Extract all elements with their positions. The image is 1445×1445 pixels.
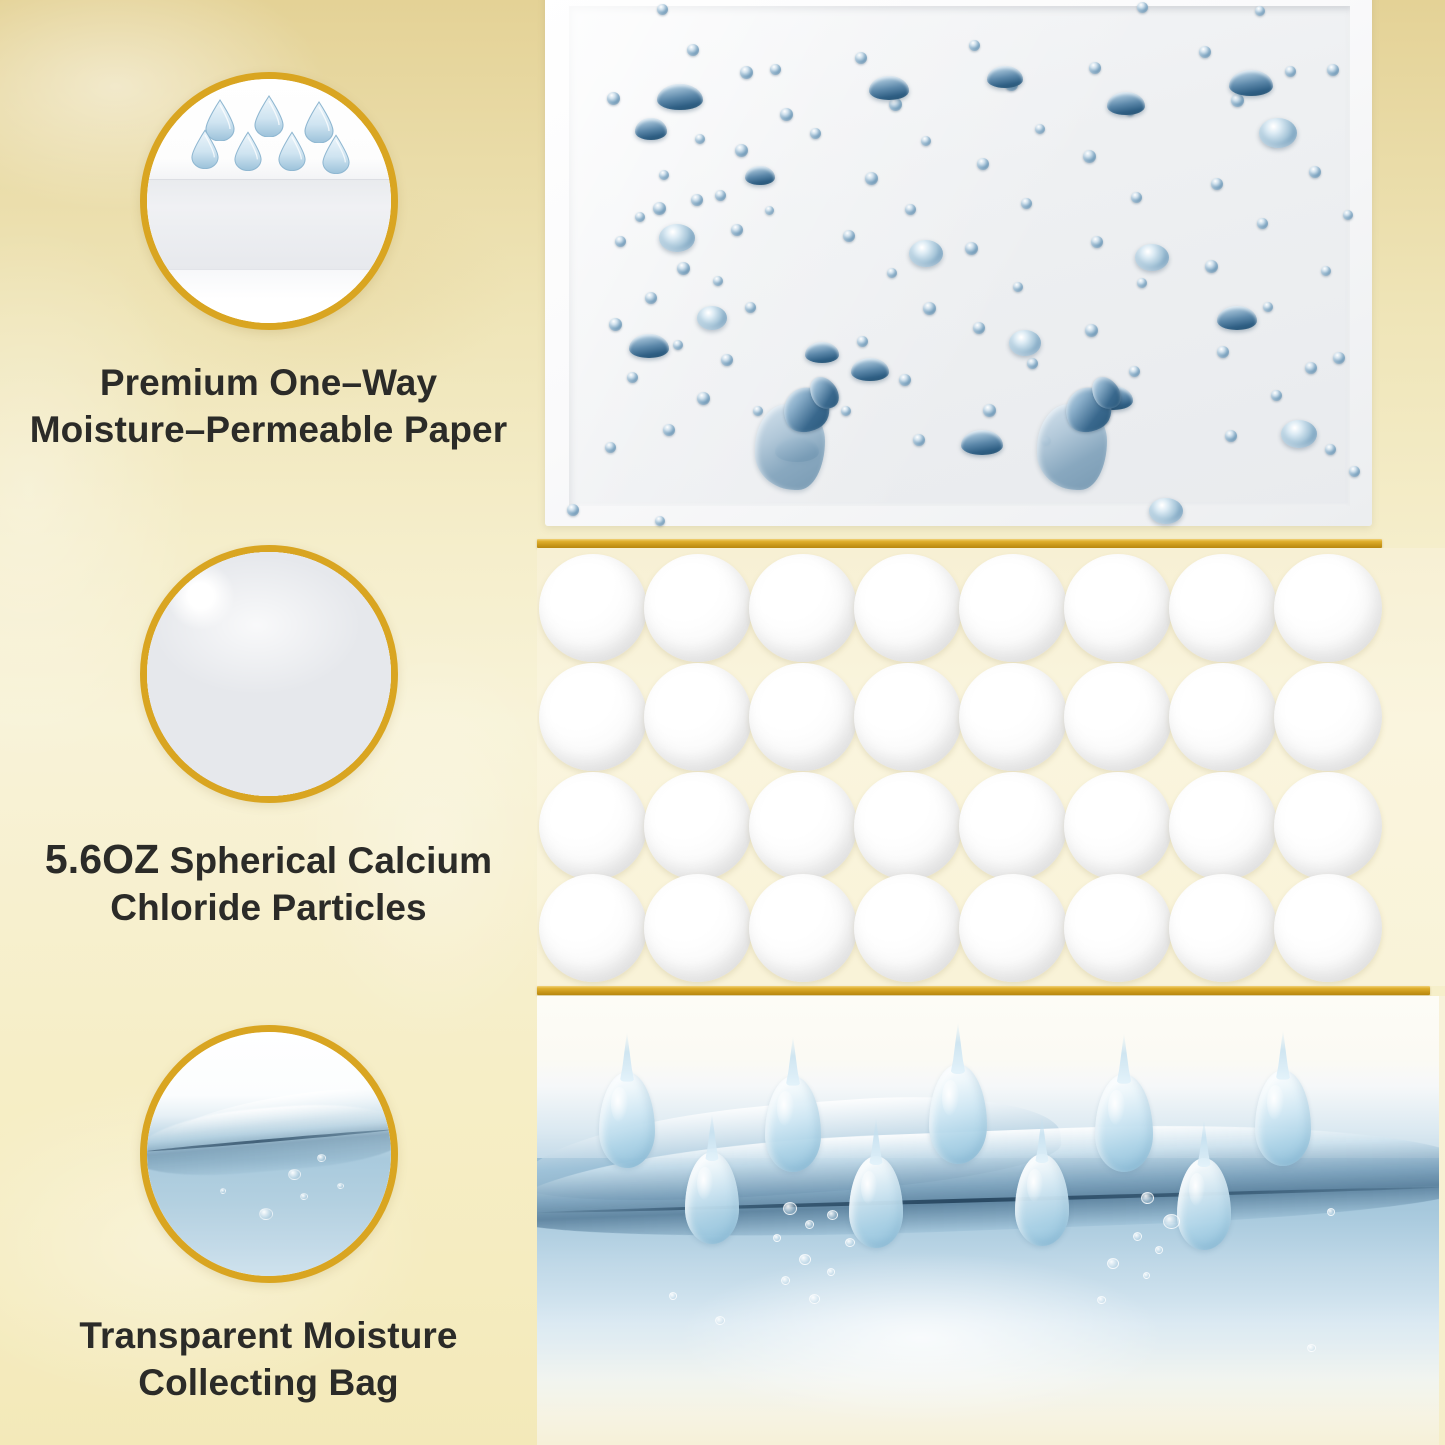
feature-caption: Premium One–Way Moisture–Permeable Paper <box>0 360 537 454</box>
feature-caption-line-2: Chloride Particles <box>18 885 519 932</box>
water-surface-icon <box>140 1025 398 1283</box>
calcium-chloride-sphere <box>539 554 647 662</box>
calcium-chloride-sphere-grid <box>537 548 1445 986</box>
paper-droplet-icon <box>322 134 350 174</box>
feature-item-one-way-paper: Premium One–Way Moisture–Permeable Paper <box>0 72 537 454</box>
feature-caption-line-1: Transparent Moisture <box>18 1313 519 1360</box>
feature-caption-line-1-rest: Spherical Calcium <box>159 840 492 881</box>
calcium-chloride-sphere <box>539 874 647 982</box>
collected-water-scene <box>537 996 1440 1445</box>
calcium-chloride-sphere <box>854 772 962 880</box>
calcium-chloride-sphere <box>854 554 962 662</box>
calcium-chloride-sphere <box>959 554 1067 662</box>
feature-list: Premium One–Way Moisture–Permeable Paper… <box>0 0 537 1445</box>
moisture-permeable-membrane-panel <box>537 0 1445 540</box>
water-teardrop <box>599 1072 655 1168</box>
calcium-chloride-sphere <box>1274 874 1382 982</box>
feature-caption-line-2: Moisture–Permeable Paper <box>18 407 519 454</box>
moisture-permeable-paper-icon <box>140 72 398 330</box>
calcium-chloride-sphere <box>644 663 752 771</box>
calcium-chloride-sphere <box>854 663 962 771</box>
calcium-chloride-sphere <box>1169 874 1277 982</box>
calcium-chloride-sphere <box>1274 772 1382 880</box>
calcium-chloride-sphere <box>749 874 857 982</box>
right-edge-strip <box>1439 996 1445 1445</box>
calcium-chloride-sphere <box>1169 554 1277 662</box>
feature-item-calcium-chloride: 5.6OZ Spherical Calcium Chloride Particl… <box>0 545 537 932</box>
product-cross-section <box>537 0 1445 1445</box>
feature-caption: 5.6OZ Spherical Calcium Chloride Particl… <box>0 833 537 932</box>
calcium-chloride-sphere <box>1064 874 1172 982</box>
calcium-chloride-sphere <box>1274 663 1382 771</box>
calcium-chloride-particles-icon <box>140 545 398 803</box>
calcium-chloride-sphere <box>959 663 1067 771</box>
divider-gold-bottom <box>537 986 1430 995</box>
divider-gold-top <box>537 539 1382 548</box>
calcium-chloride-sphere <box>1064 554 1172 662</box>
calcium-chloride-sphere <box>1274 554 1382 662</box>
calcium-chloride-sphere <box>749 554 857 662</box>
water-teardrop <box>929 1064 987 1164</box>
calcium-chloride-sphere <box>1169 772 1277 880</box>
feature-caption-line-2: Collecting Bag <box>18 1360 519 1407</box>
calcium-chloride-sphere <box>1064 663 1172 771</box>
paper-droplet-icon <box>278 131 306 171</box>
calcium-chloride-sphere <box>959 874 1067 982</box>
feature-caption-line-1: Premium One–Way <box>18 360 519 407</box>
calcium-chloride-sphere <box>1169 663 1277 771</box>
calcium-chloride-sphere <box>644 772 752 880</box>
weight-value: 5.6OZ <box>45 836 159 882</box>
calcium-chloride-sphere <box>749 663 857 771</box>
feature-item-collecting-bag: Transparent Moisture Collecting Bag <box>0 1025 537 1407</box>
water-teardrop <box>1255 1070 1311 1166</box>
calcium-chloride-sphere <box>644 554 752 662</box>
feature-caption: Transparent Moisture Collecting Bag <box>0 1313 537 1407</box>
water-teardrop <box>765 1076 821 1172</box>
paper-droplet-icon <box>234 131 262 171</box>
calcium-chloride-sphere <box>539 772 647 880</box>
calcium-chloride-sphere <box>749 772 857 880</box>
calcium-chloride-sphere <box>539 663 647 771</box>
calcium-chloride-sphere <box>854 874 962 982</box>
calcium-chloride-sphere <box>959 772 1067 880</box>
calcium-chloride-sphere <box>1064 772 1172 880</box>
paper-droplet-icon <box>191 129 219 169</box>
feature-caption-line-1: 5.6OZ Spherical Calcium <box>18 833 519 885</box>
water-teardrop <box>1095 1074 1153 1172</box>
calcium-chloride-sphere <box>644 874 752 982</box>
